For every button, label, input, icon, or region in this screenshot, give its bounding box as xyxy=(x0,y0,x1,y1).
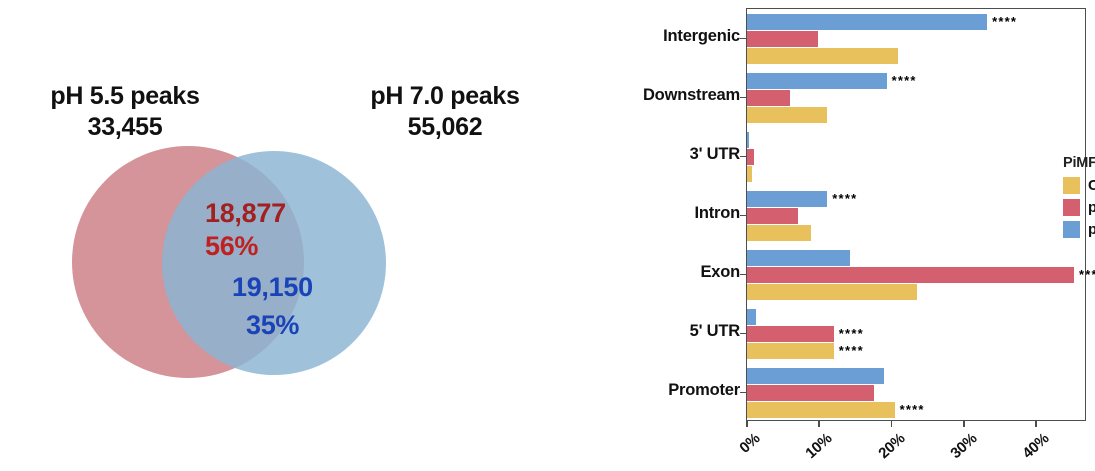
significance-marker: **** xyxy=(832,191,857,207)
bar xyxy=(747,368,884,384)
venn-intersection-count: 18,877 xyxy=(205,198,286,229)
y-axis-label: Downstream xyxy=(643,86,740,105)
bar xyxy=(747,343,834,359)
bar xyxy=(747,191,827,207)
x-axis-tick xyxy=(1035,421,1037,427)
bar xyxy=(747,284,917,300)
x-axis-tick xyxy=(963,421,965,427)
legend: PiMFS CommonpH 5.5 biasedpH 7.0 biased xyxy=(1063,155,1095,241)
bar xyxy=(747,208,798,224)
bar xyxy=(747,326,834,342)
significance-marker: **** xyxy=(900,402,925,418)
legend-swatch-icon xyxy=(1063,177,1080,194)
significance-marker: **** xyxy=(892,73,917,89)
bar xyxy=(747,166,752,182)
significance-marker: **** xyxy=(839,326,864,342)
bar xyxy=(747,250,850,266)
venn-intersection-percent: 56% xyxy=(205,231,258,262)
plot-inner: **************************** xyxy=(747,9,1085,420)
bar xyxy=(747,385,874,401)
bar xyxy=(747,225,811,241)
x-axis-tick-label: 40% xyxy=(1012,430,1053,469)
bar xyxy=(747,309,756,325)
bar xyxy=(747,107,827,123)
significance-marker: **** xyxy=(839,343,864,359)
y-axis-label: Exon xyxy=(700,263,740,282)
bar xyxy=(747,48,898,64)
y-axis-label: Intron xyxy=(694,204,740,223)
venn-union-count: 19,150 xyxy=(232,272,313,303)
bar xyxy=(747,402,895,418)
legend-items: CommonpH 5.5 biasedpH 7.0 biased xyxy=(1063,175,1095,240)
legend-item-label: pH 5.5 biased xyxy=(1088,199,1095,216)
x-axis-tick-label: 0% xyxy=(722,430,763,469)
x-axis-tick xyxy=(818,421,820,427)
venn-circle-right xyxy=(162,151,386,375)
significance-marker: **** xyxy=(992,14,1017,30)
legend-item-label: Common xyxy=(1088,177,1095,194)
bar xyxy=(747,267,1074,283)
legend-item: pH 5.5 biased xyxy=(1063,197,1095,218)
x-axis-tick-label: 30% xyxy=(939,430,980,469)
bar xyxy=(747,149,754,165)
venn-union-percent: 35% xyxy=(246,310,299,341)
x-axis-tick xyxy=(891,421,893,427)
y-axis-label: Promoter xyxy=(668,381,740,400)
legend-item: pH 7.0 biased xyxy=(1063,219,1095,240)
legend-title: PiMFS xyxy=(1063,155,1095,171)
plot-area: **************************** PiMFS Commo… xyxy=(746,8,1086,421)
legend-item-label: pH 7.0 biased xyxy=(1088,221,1095,238)
y-axis: IntergenicDownstream3' UTRIntronExon5' U… xyxy=(600,8,740,421)
x-axis-tick xyxy=(746,421,748,427)
x-axis-tick-label: 20% xyxy=(867,430,908,469)
bar xyxy=(747,31,818,47)
figure-container: pH 5.5 peaks 33,455 pH 7.0 peaks 55,062 … xyxy=(0,0,1095,470)
y-axis-label: Intergenic xyxy=(663,27,740,46)
bar xyxy=(747,132,749,148)
bar xyxy=(747,14,987,30)
x-axis-tick-label: 10% xyxy=(795,430,836,469)
bar-chart-panel: IntergenicDownstream3' UTRIntronExon5' U… xyxy=(600,0,1095,470)
significance-marker: **** xyxy=(1079,267,1095,283)
bar xyxy=(747,73,887,89)
venn-circles xyxy=(0,0,600,470)
y-axis-label: 3' UTR xyxy=(690,145,740,164)
legend-item: Common xyxy=(1063,175,1095,196)
legend-swatch-icon xyxy=(1063,221,1080,238)
bar xyxy=(747,90,790,106)
legend-swatch-icon xyxy=(1063,199,1080,216)
x-axis: 0%10%20%30%40% xyxy=(746,421,1086,471)
y-axis-label: 5' UTR xyxy=(690,322,740,341)
venn-diagram-panel: pH 5.5 peaks 33,455 pH 7.0 peaks 55,062 … xyxy=(0,0,600,470)
